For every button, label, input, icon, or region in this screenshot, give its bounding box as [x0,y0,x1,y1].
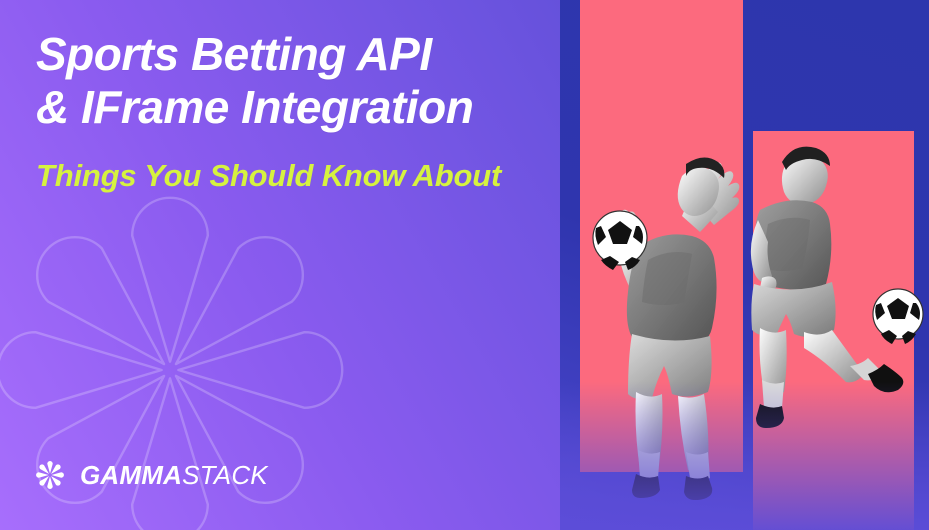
photo-collage [560,0,929,530]
brand-logo: GAMMASTACK [33,458,268,492]
logo-word-stack: STACK [182,460,268,490]
page-title: Sports Betting API & IFrame Integration [36,28,576,135]
starburst-icon [33,458,67,492]
logo-word-gamma: GAMMA [80,460,182,490]
blue-panel-bottom-fade [560,0,929,530]
promo-banner: Sports Betting API & IFrame Integration … [0,0,929,530]
headline-line-1: Sports Betting API [36,28,576,81]
headline-block: Sports Betting API & IFrame Integration … [36,28,576,194]
headline-line-2: & IFrame Integration [36,81,576,134]
subtitle: Things You Should Know About [36,157,576,194]
logo-wordmark: GAMMASTACK [80,460,268,491]
